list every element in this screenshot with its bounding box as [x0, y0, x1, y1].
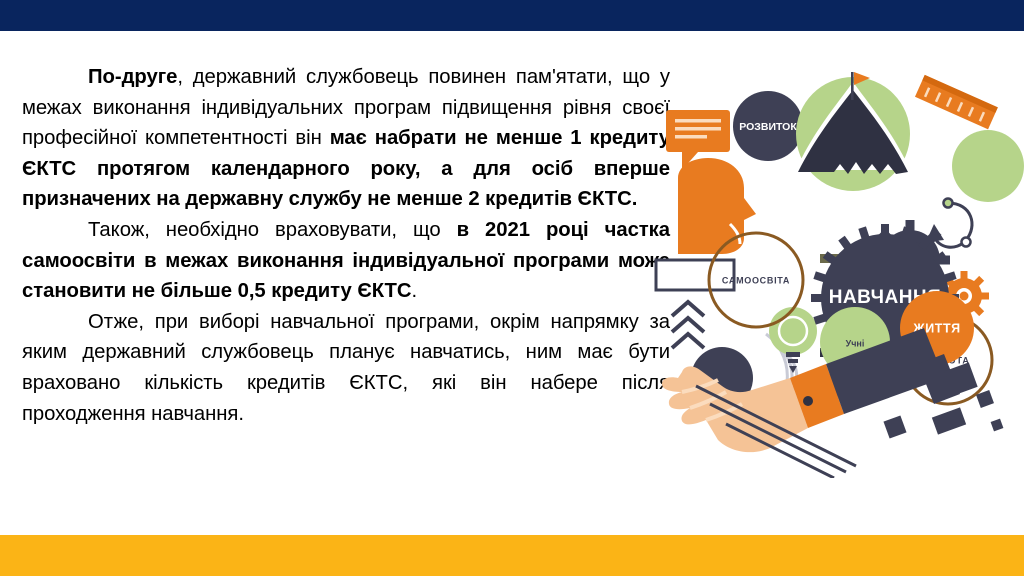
chevron-arrows-icon — [672, 302, 704, 348]
paragraph-1: По-друге, державний службовець повинен п… — [22, 62, 670, 215]
uchni-label: Учні — [846, 338, 865, 348]
green-blob-icon — [952, 130, 1024, 202]
rozvytok-badge: РОЗВИТОК — [733, 91, 803, 161]
samoosvita-label: САМООСВІТА — [722, 275, 790, 285]
ruler-icon — [915, 75, 998, 129]
text-run: Отже, при виборі навчальної програми, ок… — [22, 311, 670, 425]
rozvytok-label: РОЗВИТОК — [739, 121, 797, 133]
mountain-flag-icon — [796, 72, 910, 191]
head-profile-icon — [656, 158, 756, 290]
top-decorative-bar — [0, 0, 1024, 31]
slide: По-друге, державний службовець повинен п… — [0, 0, 1024, 576]
bottom-decorative-bar — [0, 535, 1024, 576]
paragraph-3: Отже, при виборі навчальної програми, ок… — [22, 307, 670, 429]
slide-body-text: По-друге, державний службовець повинен п… — [22, 62, 670, 429]
text-run-bold: По-друге — [88, 66, 177, 88]
text-run: . — [412, 280, 418, 302]
paragraph-2: Також, необхідно враховувати, що в 2021 … — [22, 215, 670, 307]
samoosvita-badge: САМООСВІТА — [709, 233, 803, 327]
text-run: Також, необхідно враховувати, що — [88, 219, 457, 241]
education-concept-illustration: РОЗВИТОК — [648, 48, 1024, 478]
